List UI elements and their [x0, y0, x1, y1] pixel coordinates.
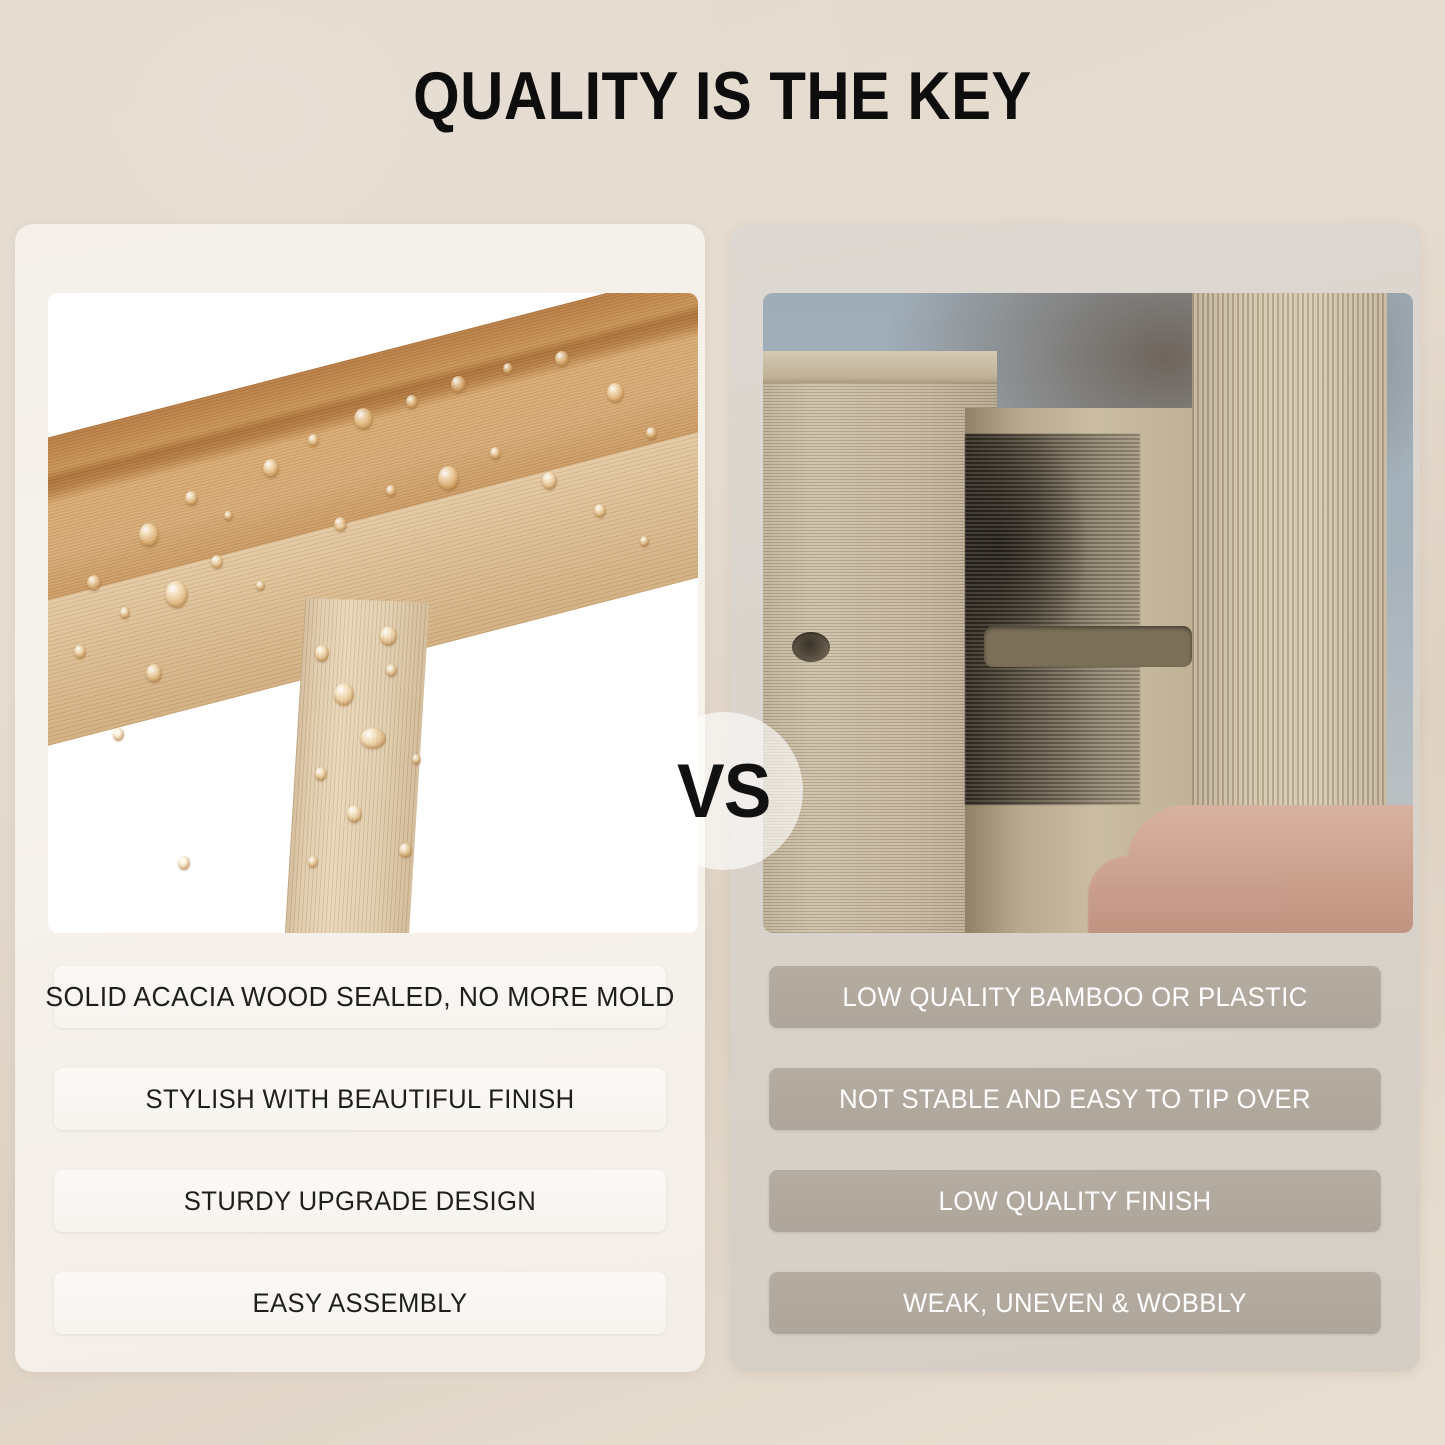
- water-droplet: [165, 581, 188, 608]
- water-droplet: [185, 491, 198, 506]
- water-droplet: [406, 395, 418, 409]
- water-droplet: [386, 485, 396, 497]
- vs-label: VS: [677, 748, 770, 835]
- water-droplet: [640, 536, 649, 547]
- good-product-panel: SOLID ACACIA WOOD SEALED, NO MORE MOLD S…: [15, 224, 705, 1372]
- water-droplet: [263, 459, 279, 478]
- water-droplet: [438, 466, 459, 491]
- acacia-leg: [285, 598, 429, 933]
- bad-product-panel: LOW QUALITY BAMBOO OR PLASTIC NOT STABLE…: [730, 224, 1420, 1372]
- water-droplet: [74, 645, 86, 659]
- water-droplet: [490, 447, 501, 460]
- water-droplet: [334, 517, 347, 532]
- mold-stain: [965, 434, 1141, 805]
- bad-feature-item: WEAK, UNEVEN & WOBBLY: [769, 1272, 1381, 1334]
- water-droplet: [347, 805, 362, 823]
- thumb: [1088, 856, 1283, 933]
- water-droplet: [211, 555, 223, 569]
- water-droplet: [256, 581, 265, 591]
- water-droplet: [607, 383, 624, 403]
- bad-feature-list: LOW QUALITY BAMBOO OR PLASTIC NOT STABLE…: [753, 966, 1397, 1374]
- good-feature-item: SOLID ACACIA WOOD SEALED, NO MORE MOLD: [54, 966, 666, 1028]
- good-feature-item: STURDY UPGRADE DESIGN: [54, 1170, 666, 1232]
- good-product-photo: [48, 293, 698, 933]
- water-droplet: [87, 575, 101, 591]
- water-droplet: [146, 664, 162, 683]
- water-droplet: [315, 767, 327, 781]
- bad-feature-item: LOW QUALITY BAMBOO OR PLASTIC: [769, 966, 1381, 1028]
- water-droplet: [354, 408, 373, 430]
- bad-product-photo: [763, 293, 1413, 933]
- water-droplet: [308, 434, 319, 447]
- joint-slot: [984, 626, 1192, 668]
- bad-feature-item: NOT STABLE AND EASY TO TIP OVER: [769, 1068, 1381, 1130]
- bad-feature-item: LOW QUALITY FINISH: [769, 1170, 1381, 1232]
- vs-badge: VS: [645, 712, 803, 870]
- water-droplet: [120, 607, 130, 619]
- page-title-container: QUALITY IS THE KEY: [0, 62, 1445, 130]
- water-droplet: [555, 351, 569, 367]
- good-feature-item: STYLISH WITH BEAUTIFUL FINISH: [54, 1068, 666, 1130]
- water-droplet: [412, 754, 421, 765]
- good-feature-item: EASY ASSEMBLY: [54, 1272, 666, 1334]
- water-droplet: [380, 626, 397, 646]
- page-title: QUALITY IS THE KEY: [413, 62, 1032, 130]
- water-droplet: [178, 856, 190, 870]
- water-droplet: [315, 645, 329, 662]
- infographic-root: QUALITY IS THE KEY: [0, 0, 1445, 1445]
- water-droplet: [224, 511, 233, 521]
- good-feature-list: SOLID ACACIA WOOD SEALED, NO MORE MOLD S…: [38, 966, 682, 1374]
- water-droplet: [113, 728, 124, 741]
